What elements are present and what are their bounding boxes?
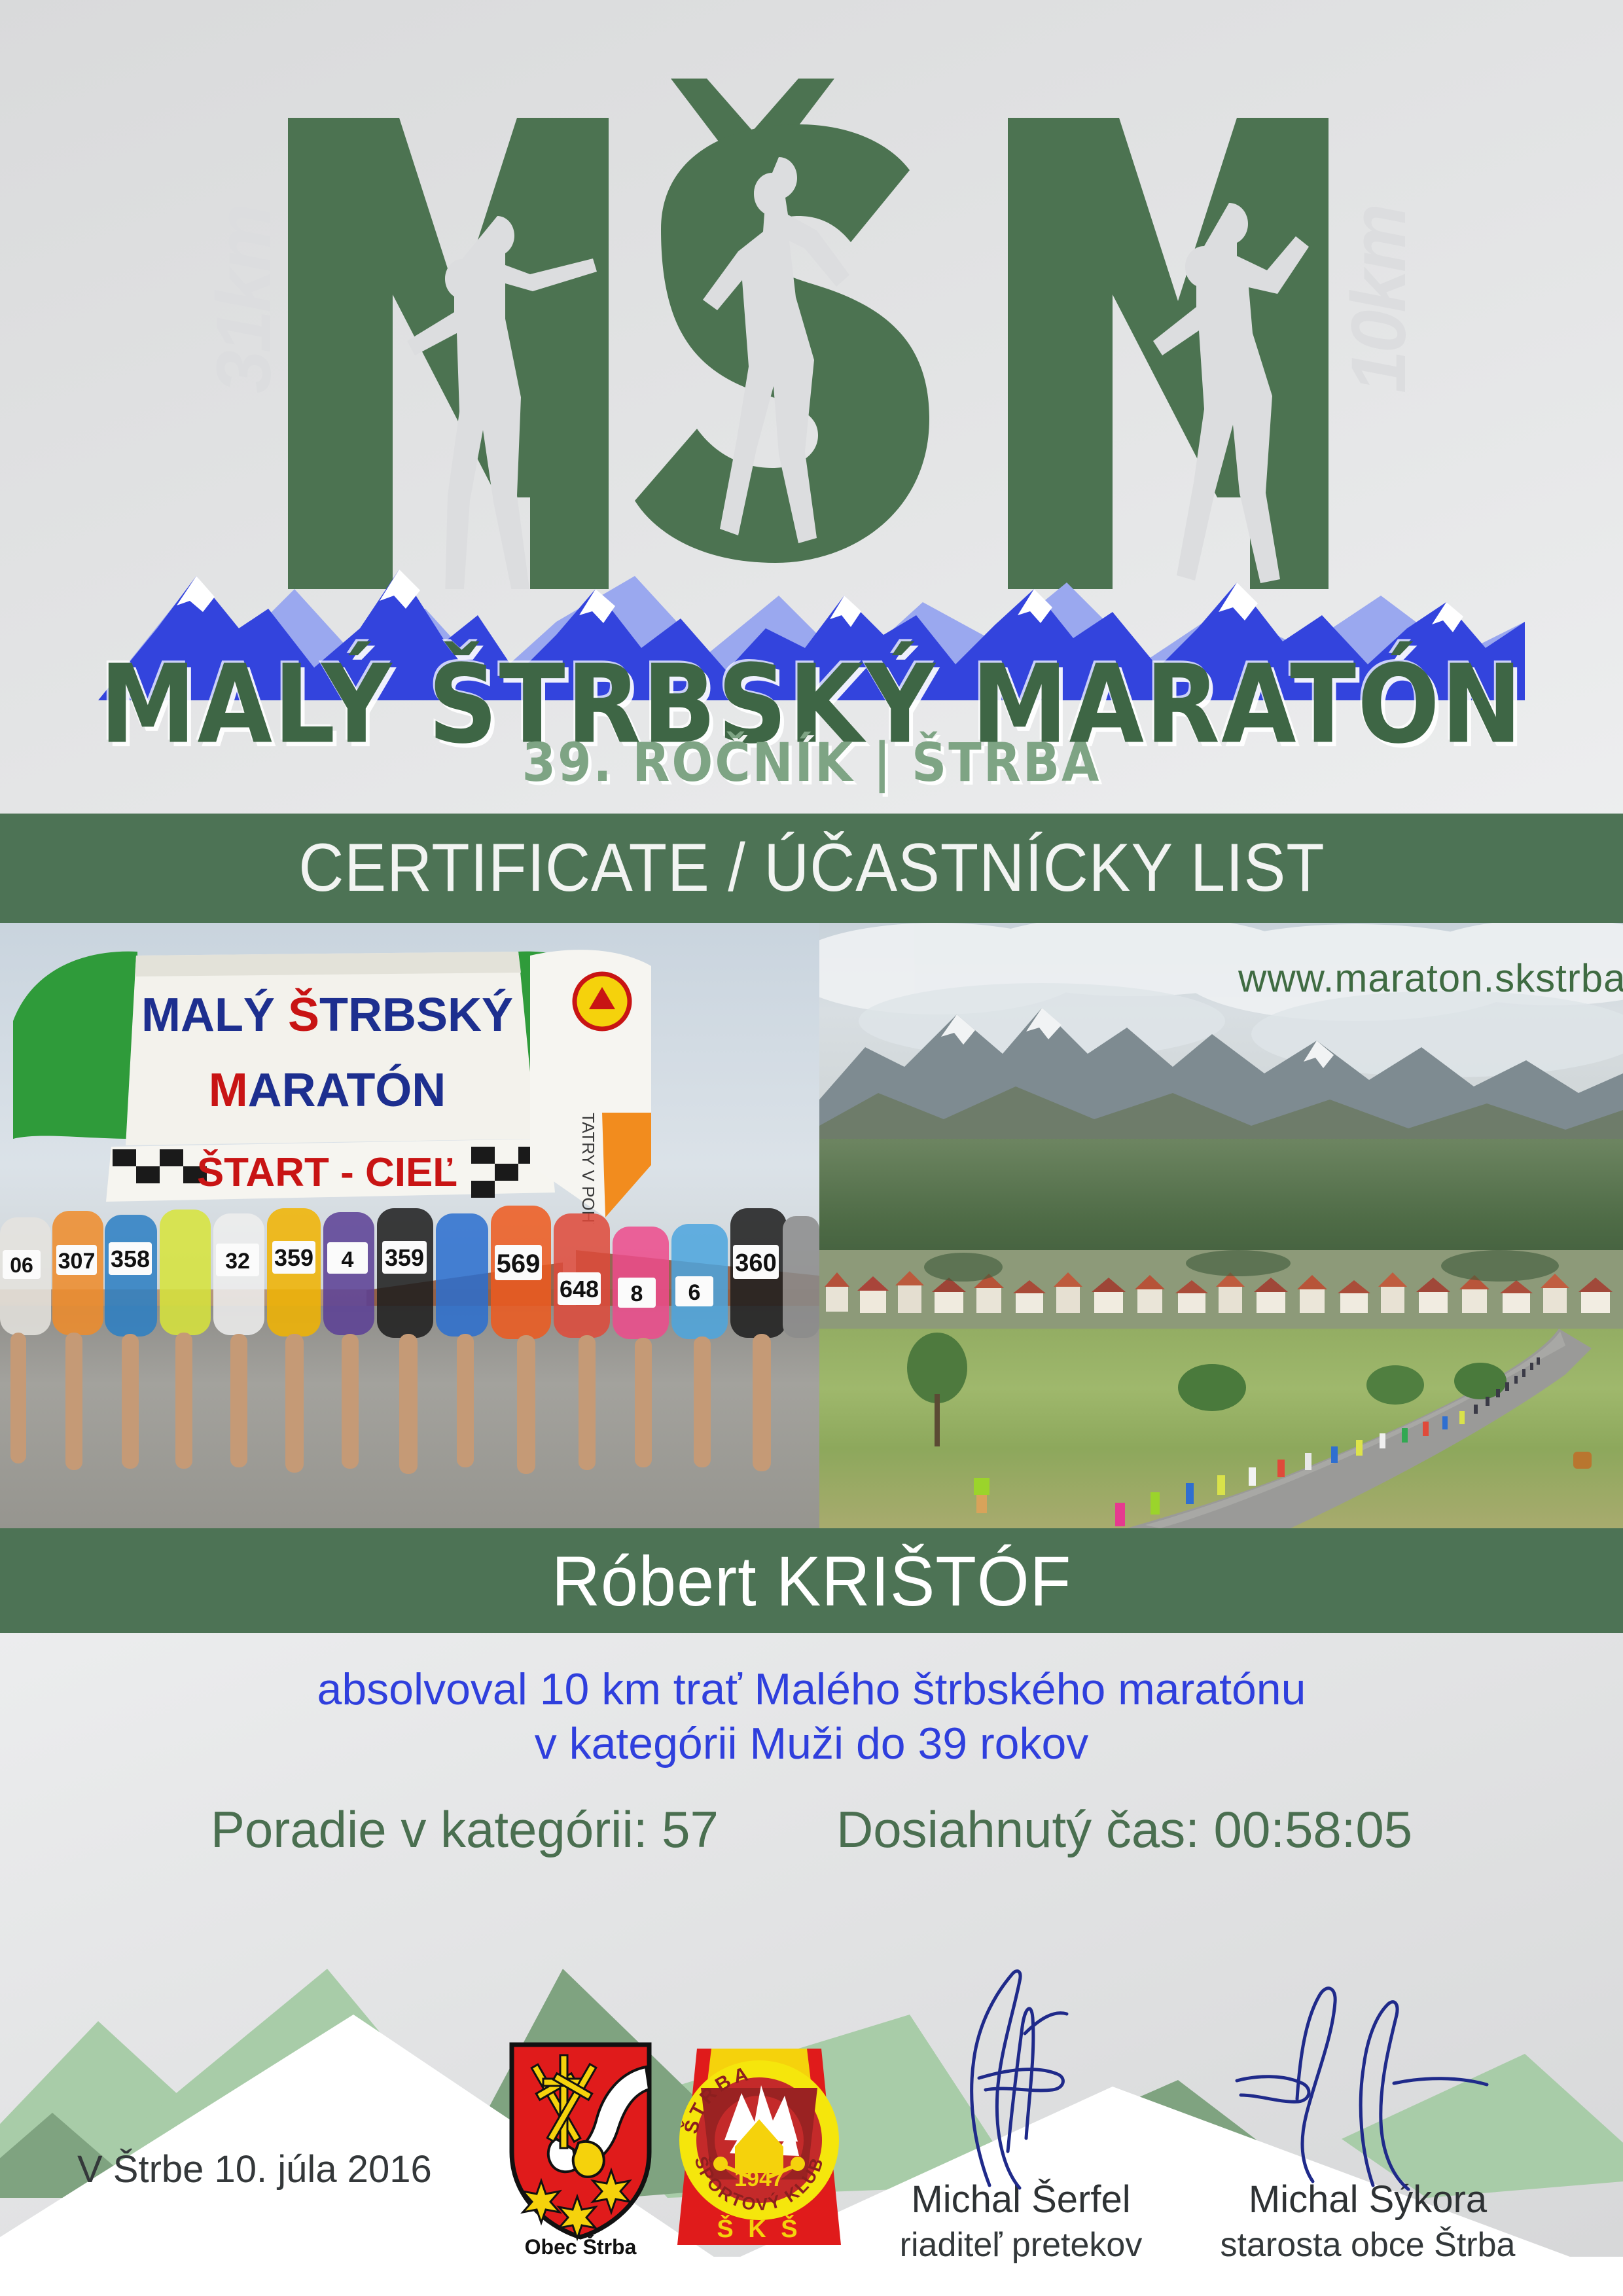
signature-block-mayor: Michal Sýkora starosta obce Štrba (1198, 2178, 1538, 2265)
signature-ink-director (851, 1955, 1191, 2191)
svg-text:Obec Štrba: Obec Štrba (525, 2235, 637, 2257)
certificate-heading-band: CERTIFICATE / ÚČASTNÍCKY LIST (0, 814, 1623, 923)
svg-text:307: 307 (58, 1249, 96, 1274)
svg-text:6: 6 (688, 1280, 701, 1305)
svg-text:569: 569 (497, 1249, 541, 1278)
svg-text:06: 06 (10, 1253, 33, 1277)
svg-text:359: 359 (385, 1244, 424, 1271)
logo-block: 31km 10km (0, 0, 1623, 812)
svg-text:360: 360 (735, 1249, 776, 1277)
signatory-role: riaditeľ pretekov (851, 2225, 1191, 2265)
signatory-role: starosta obce Štrba (1198, 2225, 1538, 2265)
event-subtitle: 39. ROČNÍK | ŠTRBA (0, 732, 1623, 794)
distance-right-label: 10km (1334, 206, 1423, 393)
village-houses (819, 1250, 1623, 1335)
certificate-footer: V Štrbe 10. júla 2016 (0, 2021, 1623, 2296)
msm-letters (190, 39, 1433, 589)
runner-crowd: 06 307 358 32 359 4 359 569 648 8 6 360 (0, 1204, 819, 1528)
participant-name-band: Róbert KRIŠTÓF (0, 1528, 1623, 1633)
race-road (819, 1329, 1623, 1528)
description-line-2: v kategórii Muži do 39 rokov (0, 1717, 1623, 1771)
course-landscape-photo: www.maraton.skstrba.sk (819, 923, 1623, 1528)
certificate-heading: CERTIFICATE / ÚČASTNÍCKY LIST (298, 829, 1325, 907)
msm-wordmark: 31km 10km (190, 39, 1433, 589)
svg-text:ŠTART - CIEĽ: ŠTART - CIEĽ (197, 1150, 457, 1195)
svg-text:648: 648 (560, 1276, 599, 1302)
certificate-page: 31km 10km (0, 0, 1623, 2296)
svg-text:Š K Š: Š K Š (717, 2214, 801, 2243)
svg-text:358: 358 (111, 1246, 150, 1272)
distance-left-label: 31km (200, 206, 289, 393)
sponsor-flag: TATRY V POHYBE (504, 949, 674, 1224)
results-row: Poradie v kategórii: 57 Dosiahnutý čas: … (0, 1800, 1623, 1859)
category-rank: Poradie v kategórii: 57 (211, 1800, 719, 1859)
sks-club-emblem: 1947 ŠTRBA ŠPORTOVÝ KLUB Š K Š (677, 2049, 841, 2251)
participant-name: Róbert KRIŠTÓF (552, 1540, 1071, 1622)
obec-strba-emblem: Obec Štrba (505, 2041, 656, 2257)
svg-text:4: 4 (342, 1247, 354, 1272)
signature-block-director: Michal Šerfel riaditeľ pretekov (851, 2178, 1191, 2265)
start-line-photo: MALÝ ŠTRBSKÝ MARATÓN ŠTART - CIEĽ (0, 923, 819, 1528)
svg-text:359: 359 (274, 1244, 313, 1271)
svg-text:MARATÓN: MARATÓN (209, 1064, 446, 1117)
svg-text:MALÝ ŠTRBSKÝ: MALÝ ŠTRBSKÝ (141, 988, 513, 1041)
svg-text:1947: 1947 (734, 2166, 784, 2191)
signature-ink-mayor (1198, 1955, 1538, 2191)
participant-description: absolvoval 10 km trať Malého štrbského m… (0, 1662, 1623, 1771)
svg-text:32: 32 (225, 1249, 250, 1274)
photo-strip: MALÝ ŠTRBSKÝ MARATÓN ŠTART - CIEĽ (0, 923, 1623, 1528)
description-line-1: absolvoval 10 km trať Malého štrbského m… (0, 1662, 1623, 1717)
website-url[interactable]: www.maraton.skstrba.sk (1238, 956, 1623, 1001)
svg-text:8: 8 (631, 1282, 643, 1306)
place-and-date: V Štrbe 10. júla 2016 (77, 2147, 432, 2191)
finish-time: Dosiahnutý čas: 00:58:05 (836, 1800, 1412, 1859)
